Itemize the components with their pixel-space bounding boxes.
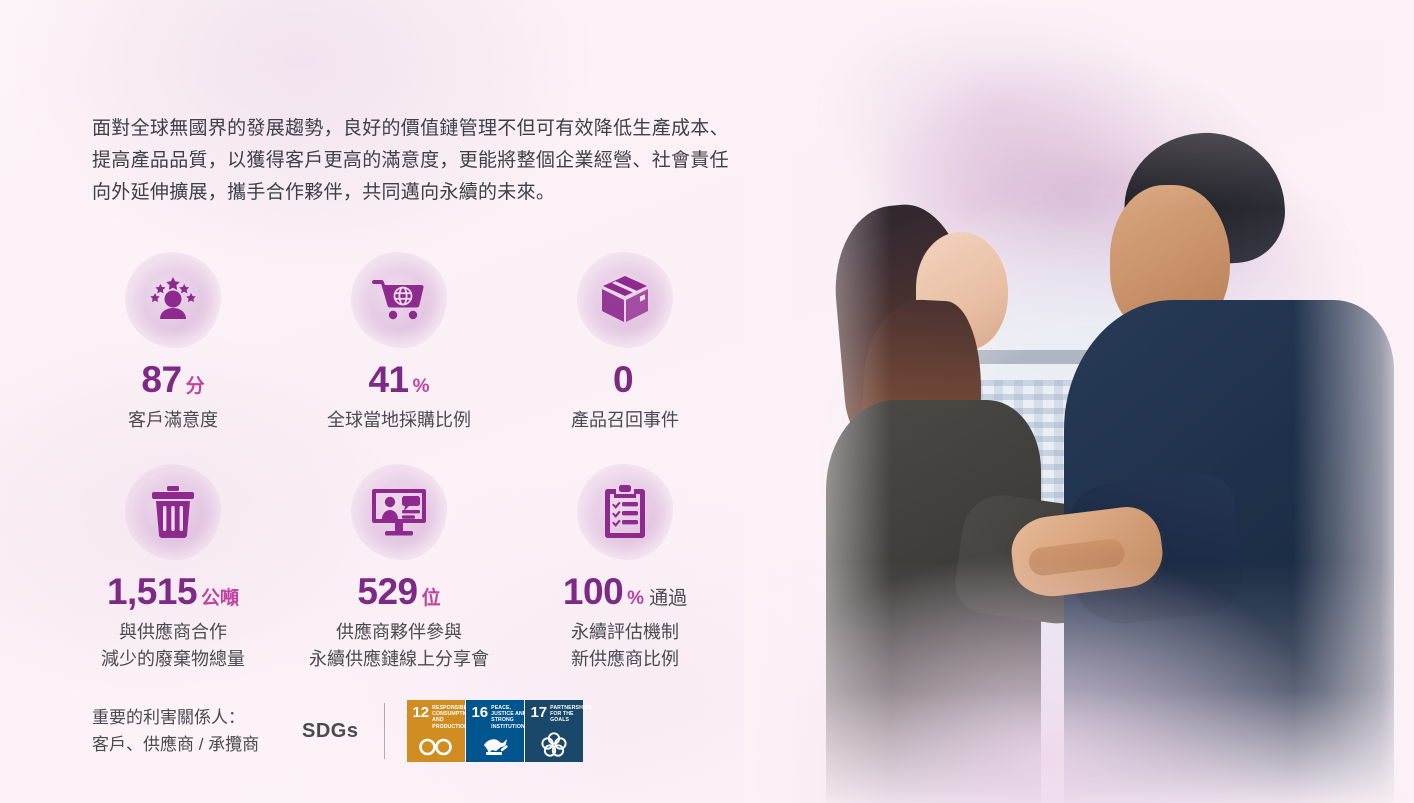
sdg-badge-header: 12 Responsible consumption and productio… [412,705,461,730]
stat-value: 529位 [286,573,512,610]
footer-section: 重要的利害關係人： 客戶、供應商 / 承攬商 SDGs 12 Responsib… [92,700,583,762]
sdg-badge-16[interactable]: 16 Peace, justice and strong institution… [466,700,524,762]
stat-label: 供應商夥伴參與 永續供應鏈線上分享會 [286,619,512,673]
stat-sustainability-assessment: 100%通過 永續評估機制 新供應商比例 [512,464,738,673]
stat-label: 全球當地採購比例 [286,407,512,434]
footer-divider [384,703,385,759]
stat-number: 1,515 [107,571,197,612]
stat-label: 永續評估機制 新供應商比例 [512,619,738,673]
stat-value: 41% [286,361,512,398]
webinar-monitor-icon [351,464,447,560]
stat-number: 0 [613,359,633,400]
handshake-photo [744,0,1414,803]
sdg-title: Partnerships for the goals [550,705,591,724]
stat-number: 41 [368,359,408,400]
stat-value: 1,515公噸 [60,573,286,610]
stat-unit: 公噸 [201,588,239,609]
statistics-grid: 87分 客戶滿意度 [60,252,740,673]
package-box-icon [577,252,673,348]
stakeholders-block: 重要的利害關係人： 客戶、供應商 / 承攬商 [92,704,282,758]
sdg-badge-12[interactable]: 12 Responsible consumption and productio… [407,700,465,762]
sdg-badge-17[interactable]: 17 Partnerships for the goals [525,700,583,762]
sdg-number: 17 [530,705,547,720]
stat-unit: 位 [422,588,441,609]
stakeholders-list: 客戶、供應商 / 承攬商 [92,731,282,758]
stat-unit: % [627,588,644,609]
stat-label: 客戶滿意度 [60,407,286,434]
sdg-title: Peace, justice and strong institutions [491,705,528,730]
sdg-badge-list: 12 Responsible consumption and productio… [407,700,583,762]
stat-waste-reduction: 1,515公噸 與供應商合作 減少的廢棄物總量 [60,464,286,673]
intro-paragraph: 面對全球無國界的發展趨勢，良好的價值鏈管理不但可有效降低生產成本、提高產品品質，… [92,113,732,209]
stat-label: 產品召回事件 [512,407,738,434]
sdg-number: 16 [471,705,488,720]
stat-value: 87分 [60,361,286,398]
stat-row-2: 1,515公噸 與供應商合作 減少的廢棄物總量 [60,464,740,673]
content-column: 面對全球無國界的發展趨勢，良好的價值鏈管理不但可有效降低生產成本、提高產品品質，… [0,0,760,803]
photo-edge-fade [744,0,1414,803]
sdg-number: 12 [412,705,429,720]
stat-product-recalls: 0 產品召回事件 [512,252,738,434]
clipboard-checklist-icon [577,464,673,560]
shopping-cart-globe-icon [351,252,447,348]
stat-row-1: 87分 客戶滿意度 [60,252,740,434]
stakeholders-title: 重要的利害關係人： [92,704,282,731]
person-with-stars-icon [125,252,221,348]
sdg-badge-header: 17 Partnerships for the goals [530,705,579,724]
stat-number: 529 [357,571,417,612]
stat-unit: 分 [186,376,205,397]
infinity-icon [407,737,465,757]
stat-unit: % [413,376,430,397]
stat-suffix: 通過 [649,588,687,609]
stat-number: 100 [563,571,623,612]
sdgs-label: SDGs [302,720,358,743]
stat-customer-satisfaction: 87分 客戶滿意度 [60,252,286,434]
stat-number: 87 [141,359,181,400]
sdg-badge-header: 16 Peace, justice and strong institution… [471,705,520,730]
stat-value: 0 [512,361,738,398]
stat-local-procurement: 41% 全球當地採購比例 [286,252,512,434]
photo-composite [744,0,1414,803]
trash-bin-icon [125,464,221,560]
stat-supplier-webinar: 529位 供應商夥伴參與 永續供應鏈線上分享會 [286,464,512,673]
dove-gavel-icon [466,735,524,757]
stat-value: 100%通過 [512,573,738,610]
interlocking-rings-icon [525,731,583,757]
stat-label: 與供應商合作 減少的廢棄物總量 [60,619,286,673]
